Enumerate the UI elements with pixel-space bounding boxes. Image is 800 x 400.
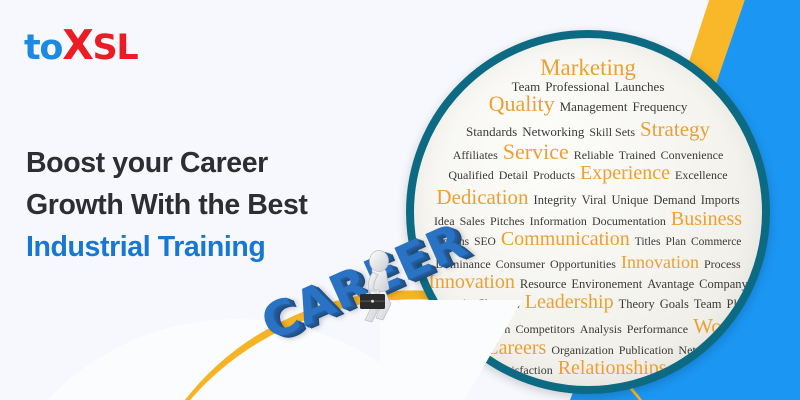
word-cloud-term: Products — [533, 169, 575, 181]
word-cloud-term: Dedication — [436, 187, 528, 208]
word-cloud-term: Plan — [666, 237, 686, 249]
word-cloud-row: QualifiedDetailProductsExperienceExcelle… — [422, 163, 754, 183]
word-cloud-row: InnovationResourceEnvironementAvantageCo… — [422, 272, 754, 292]
word-cloud-term: Information — [530, 215, 587, 227]
word-cloud-term: Trained — [619, 149, 656, 161]
word-cloud-row: Marketing — [422, 56, 754, 79]
word-cloud-term: Frequency — [633, 100, 688, 113]
word-cloud-term: Environement — [571, 278, 642, 291]
word-cloud-term: Plan — [727, 298, 749, 311]
word-cloud-term: Viral — [582, 194, 607, 207]
word-cloud-term: Concept — [440, 344, 480, 356]
word-cloud-term: Unique — [612, 194, 649, 207]
word-cloud-term: Factors — [437, 323, 472, 335]
word-cloud-row: DedicationIntegrityViralUniqueDemandImpo… — [422, 187, 754, 208]
word-cloud-row: StandardsNetworkingSkill SetsStrategy — [422, 119, 754, 140]
word-cloud-term: SEO — [474, 237, 496, 249]
word-cloud: MarketingTeamProfessionalLaunchesQuality… — [414, 38, 762, 386]
word-cloud-row: TeamProfessionalLaunches — [422, 80, 754, 93]
word-cloud-term: Team — [694, 298, 722, 311]
word-cloud-term: Communication — [501, 229, 630, 249]
word-cloud-term: Production — [672, 364, 725, 376]
word-cloud-term: Sales — [460, 215, 485, 227]
toxsl-logo[interactable]: toXSL — [24, 25, 137, 66]
word-cloud-term: Service — [503, 141, 569, 163]
word-cloud-term: Commerce — [691, 237, 741, 249]
word-cloud-term: Standards — [466, 125, 517, 138]
word-cloud-term: Launches — [615, 80, 665, 93]
word-cloud-term: Competitors — [515, 323, 574, 335]
word-cloud-term: Detail — [499, 169, 528, 181]
word-cloud-term: Business — [671, 209, 742, 229]
businessman-mannequin-icon — [352, 248, 410, 328]
word-cloud-term: Process — [704, 258, 741, 270]
magnifying-glass-lens: MarketingTeamProfessionalLaunchesQuality… — [406, 30, 770, 394]
word-cloud-term: Organization — [551, 344, 613, 356]
word-cloud-term: Publication — [619, 344, 674, 356]
word-cloud-row: AffiliatesServiceReliableTrainedConvenie… — [422, 141, 754, 163]
word-cloud-term: Leadership — [525, 292, 614, 312]
word-cloud-term: Professional — [545, 80, 609, 93]
word-cloud-term: Documentation — [592, 215, 666, 227]
word-cloud-term: Satisfaction — [496, 364, 553, 376]
word-cloud-row: QualityManagementFrequency — [422, 93, 754, 115]
word-cloud-term: Goals — [660, 298, 689, 311]
word-cloud-term: Skill Sets — [589, 126, 635, 138]
word-cloud-term: Qualified — [448, 169, 493, 181]
word-cloud-term: Experience — [580, 163, 670, 183]
word-cloud-row: PartnersSatisfactionRelationshipsProduct… — [422, 358, 754, 378]
word-cloud-term: Excellence — [675, 169, 728, 181]
word-cloud-term: Consumer — [496, 258, 545, 270]
word-cloud-term: Opportunities — [550, 258, 616, 270]
word-cloud-term: Networking — [678, 344, 735, 356]
word-cloud-term: Partners — [452, 364, 491, 376]
headline-block: Boost your Career Growth With the Best I… — [26, 143, 386, 269]
word-cloud-row: ConceptCareersOrganizationPublicationNet… — [422, 338, 754, 358]
word-cloud-term: Titles — [635, 237, 661, 249]
word-cloud-term: Performance — [627, 323, 688, 335]
headline-line-3: Industrial Training — [26, 227, 386, 269]
word-cloud-term: Company — [699, 278, 748, 291]
word-cloud-term: Strategic — [427, 298, 471, 311]
word-cloud-term: Convenience — [661, 149, 724, 161]
word-cloud-term: Avantage — [647, 278, 694, 291]
word-cloud-term: Imports — [701, 194, 740, 207]
logo-text-sl: SL — [93, 28, 138, 68]
word-cloud-term: Management — [560, 100, 628, 113]
word-cloud-term: Affiliates — [453, 149, 498, 161]
word-cloud-term: Changes — [477, 298, 520, 311]
promo-banner: toXSL Boost your Career Growth With the … — [0, 0, 800, 400]
word-cloud-term: Theory — [619, 298, 655, 311]
logo-text-to: to — [24, 28, 62, 68]
word-cloud-term: Marketing — [540, 56, 636, 79]
word-cloud-term: Option — [477, 323, 510, 335]
word-cloud-row: Opt-insSEOCommunicationTitlesPlanCommerc… — [422, 229, 754, 249]
word-cloud-term: Strategy — [640, 119, 710, 140]
headline-line-1: Boost your Career — [26, 143, 386, 185]
logo-text-x: X — [62, 21, 92, 69]
word-cloud-term: Demand — [653, 194, 695, 207]
word-cloud-row: StrategicChangesLeadershipTheoryGoalsTea… — [422, 292, 754, 312]
word-cloud-term: Integrity — [534, 194, 577, 207]
word-cloud-term: Networking — [522, 125, 584, 138]
word-cloud-term: Innovation — [621, 253, 699, 271]
headline-line-2: Growth With the Best — [26, 185, 386, 227]
word-cloud-row: IdeaSalesPitchesInformationDocumentation… — [422, 209, 754, 229]
word-cloud-term: Work — [693, 316, 739, 337]
word-cloud-term: Pitches — [490, 215, 525, 227]
word-cloud-term: Quality — [489, 93, 555, 115]
word-cloud-term: Analysis — [580, 323, 622, 335]
word-cloud-row: FactorsOptionCompetitorsAnalysisPerforma… — [422, 316, 754, 337]
word-cloud-term: Reliable — [574, 149, 614, 161]
word-cloud-term: Resource — [520, 278, 567, 291]
word-cloud-term: Relationships — [558, 358, 667, 378]
word-cloud-term: Careers — [485, 338, 546, 358]
